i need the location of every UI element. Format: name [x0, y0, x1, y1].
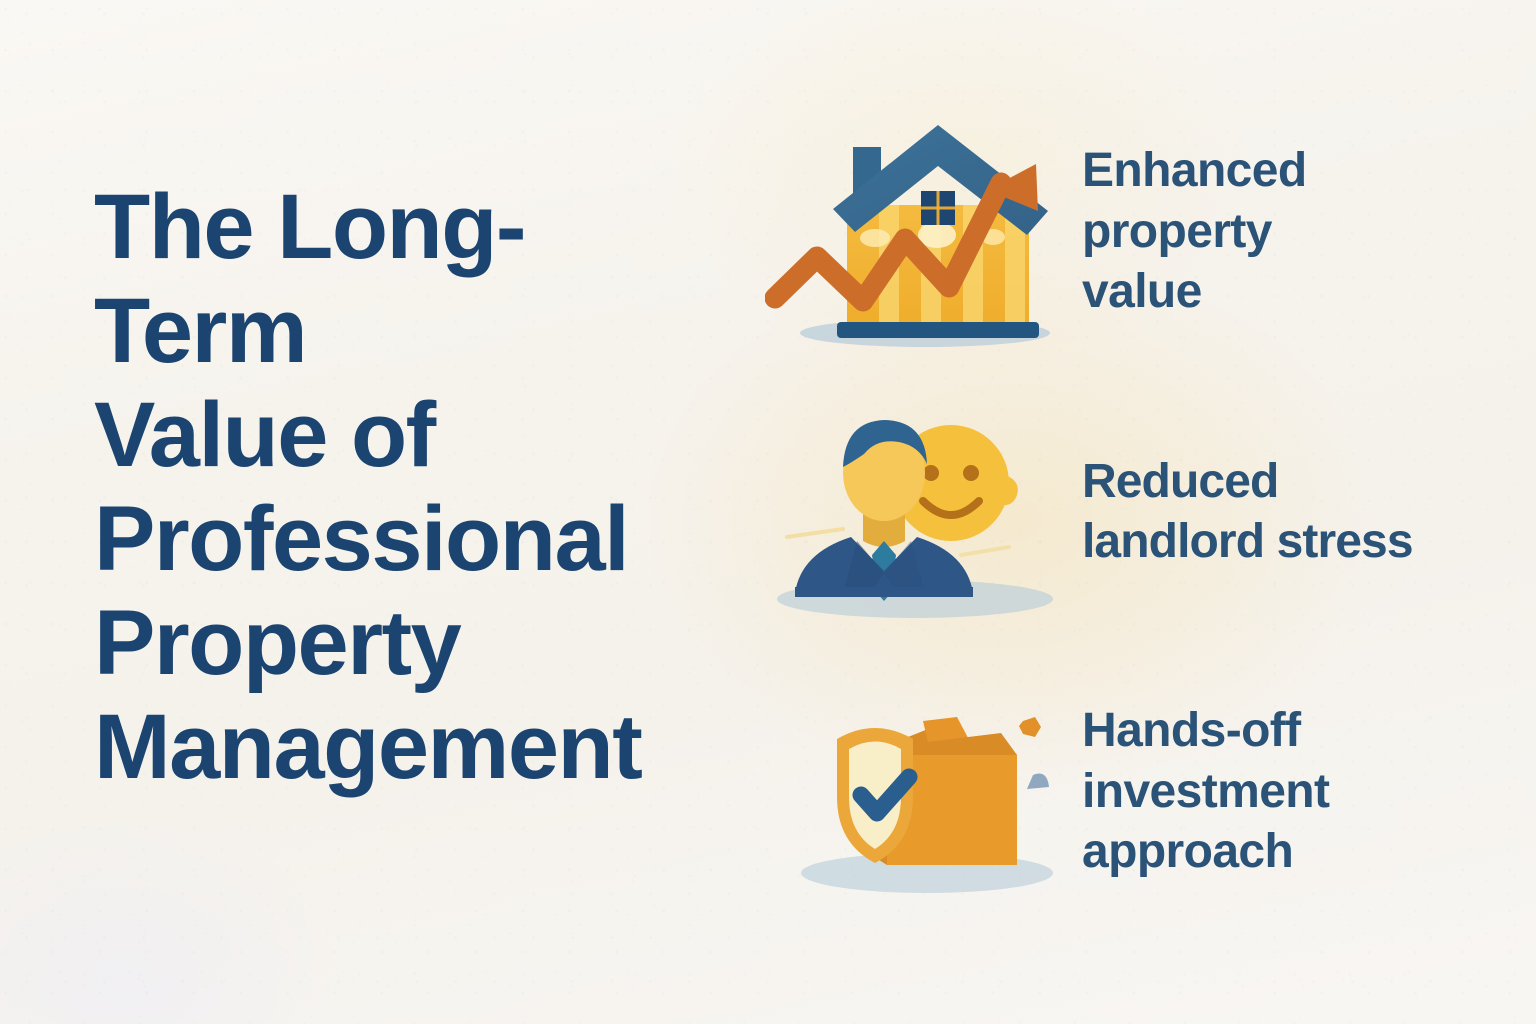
title-block: The Long-Term Value of Professional Prop… [94, 176, 734, 800]
page-title: The Long-Term Value of Professional Prop… [94, 176, 734, 800]
benefit-item-enhanced-property-value: Enhanced property value [760, 92, 1520, 372]
infographic-poster: The Long-Term Value of Professional Prop… [0, 0, 1536, 1024]
shield-check-folder-illustration [765, 677, 1065, 907]
shield-check-folder-icon [760, 677, 1070, 907]
businessman-smiley-icon [760, 387, 1070, 637]
benefits-list: Enhanced property value [760, 92, 1520, 932]
benefit-item-reduced-landlord-stress: Reduced landlord stress [760, 372, 1520, 652]
businessman-smiley-illustration [765, 387, 1065, 637]
house-growth-chart-icon [760, 105, 1070, 360]
benefit-label-hands-off-investment-approach: Hands-off investment approach [1070, 701, 1520, 882]
benefit-label-enhanced-property-value: Enhanced property value [1070, 141, 1520, 322]
benefit-label-reduced-landlord-stress: Reduced landlord stress [1070, 452, 1520, 573]
house-growth-chart-illustration [765, 105, 1065, 360]
benefit-item-hands-off-investment-approach: Hands-off investment approach [760, 652, 1520, 932]
